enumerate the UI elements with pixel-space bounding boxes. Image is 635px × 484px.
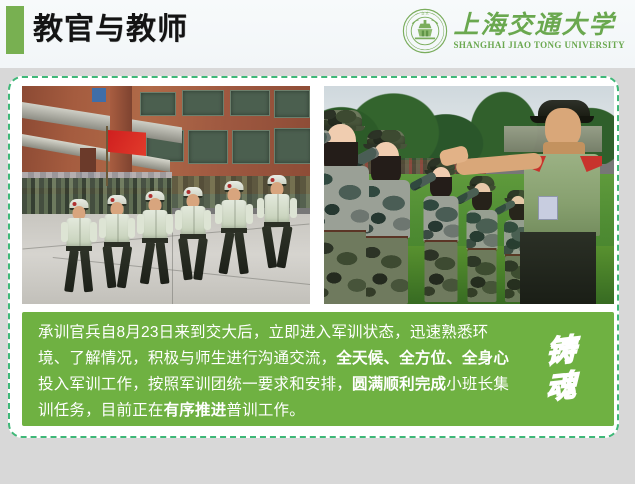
description-emphasis: 有序推进 — [164, 402, 227, 419]
description-panel: 承训官兵自8月23日来到交大后，立即进入军训状态，迅速熟悉环境、了解情况，积极与… — [22, 312, 614, 426]
slide-header: 教官与教师 交 大 上海交通大学 SHANGHAI JIAO TONG UNIV… — [0, 0, 635, 68]
university-logo: 交 大 上海交通大学 SHANGHAI JIAO TONG UNIVERSITY — [402, 5, 625, 57]
description-paragraph: 承训官兵自8月23日来到交大后，立即进入军训状态，迅速熟悉环境、了解情况，积极与… — [38, 320, 518, 424]
logo-wordmark: 上海交通大学 SHANGHAI JIAO TONG UNIVERSITY — [453, 13, 625, 50]
description-emphasis: 全天候、全方位、全身心 — [336, 350, 509, 367]
slide-root: 教官与教师 交 大 上海交通大学 SHANGHAI JIAO TONG UNIV… — [0, 0, 635, 484]
calligraphy-char-bottom: 魂 — [546, 369, 576, 406]
description-emphasis: 圆满顺利完成 — [352, 376, 446, 393]
description-text: 投入军训工作，按照军训团统一要求和安排， — [38, 376, 352, 393]
description-text: 普训工作。 — [226, 402, 305, 419]
calligraphy-stamp: 铸 魂 — [530, 322, 592, 418]
photo-officer-inspecting-students — [324, 86, 614, 304]
logo-name-cn: 上海交通大学 — [453, 13, 625, 38]
page-title: 教官与教师 — [33, 8, 188, 52]
title-accent-bar — [6, 6, 24, 54]
photo-officers-marching — [22, 86, 310, 304]
sjtu-seal-icon: 交 大 — [402, 8, 448, 54]
calligraphy-char-top: 铸 — [546, 333, 576, 370]
svg-text:交 大: 交 大 — [422, 10, 430, 15]
photo-row — [22, 86, 614, 304]
logo-name-en: SHANGHAI JIAO TONG UNIVERSITY — [453, 41, 625, 50]
bottom-strip — [0, 442, 635, 484]
